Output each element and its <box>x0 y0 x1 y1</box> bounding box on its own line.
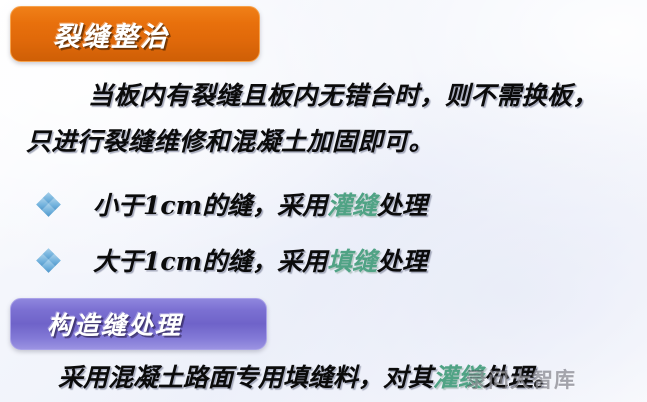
list-item-text-highlight: 填缝 <box>327 247 377 276</box>
list-item-text-suffix: 处理 <box>377 247 427 276</box>
list-item: 大于1cm的缝，采用填缝处理 <box>38 242 427 278</box>
blue-diamond-bullet-icon <box>38 194 59 215</box>
section-header-construction-joint-treatment: 构造缝处理 <box>10 298 267 350</box>
list-item-text: 大于1cm的缝，采用填缝处理 <box>93 242 427 278</box>
slide-canvas: 裂缝整治 当板内有裂缝且板内无错台时，则不需换板， 只进行裂缝维修和混凝土加固即… <box>0 0 647 402</box>
list-item-text: 小于1cm的缝，采用灌缝处理 <box>93 186 427 222</box>
list-item-text-suffix: 处理 <box>377 191 427 220</box>
list-item: 小于1cm的缝，采用灌缝处理 <box>38 186 427 222</box>
section-header-construction-joint-treatment-label: 构造缝处理 <box>47 306 182 342</box>
list-item-text-prefix: 小于1cm的缝，采用 <box>93 191 327 220</box>
paragraph-line-1: 当板内有裂缝且板内无错台时，则不需换板， <box>88 76 598 112</box>
list-item-text-highlight: 灌缝 <box>327 191 377 220</box>
section-header-crack-treatment: 裂缝整治 <box>10 6 260 62</box>
blue-diamond-bullet-icon <box>38 250 59 271</box>
closing-line: 采用混凝土路面专用填缝料，对其灌缝处理。 <box>58 358 558 394</box>
closing-line-highlight: 灌缝 <box>433 363 483 392</box>
closing-line-prefix: 采用混凝土路面专用填缝料，对其 <box>58 363 433 392</box>
section-header-crack-treatment-label: 裂缝整治 <box>53 15 169 54</box>
paragraph-line-2: 只进行裂缝维修和混凝土加固即可。 <box>26 122 434 158</box>
closing-line-suffix: 处理。 <box>483 363 558 392</box>
list-item-text-prefix: 大于1cm的缝，采用 <box>93 247 327 276</box>
